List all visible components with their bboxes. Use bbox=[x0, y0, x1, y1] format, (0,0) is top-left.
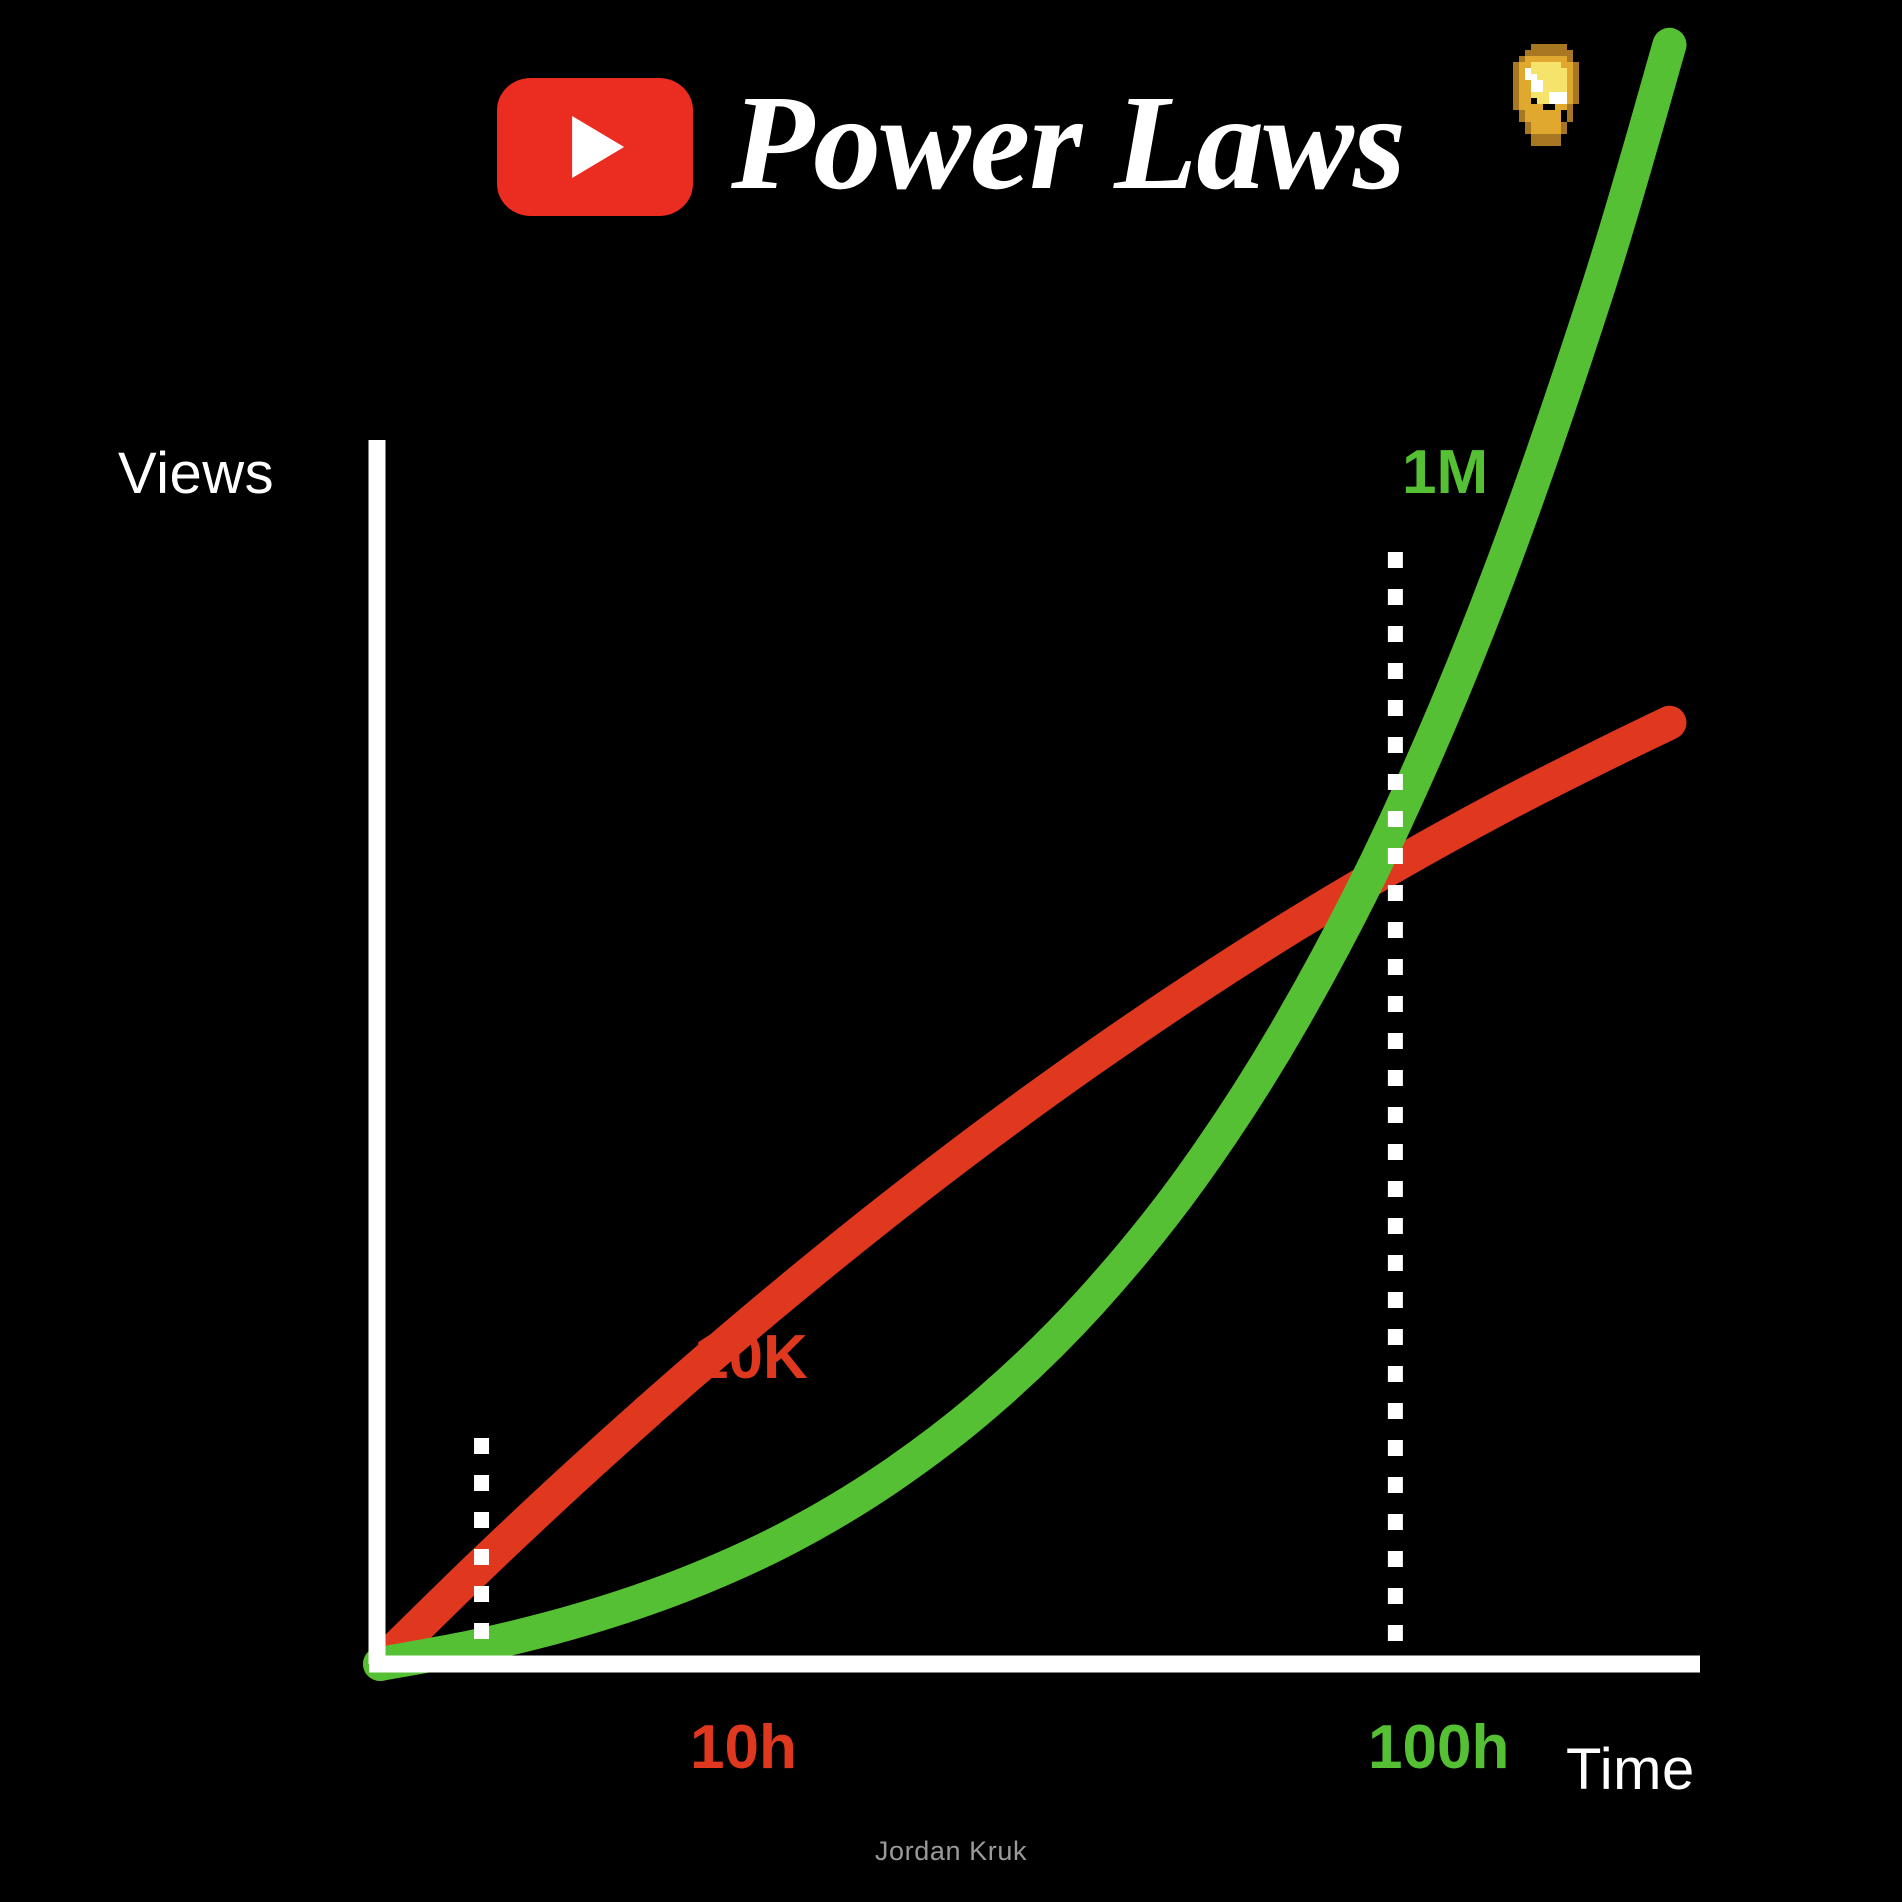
watermark: Jordan Kruk bbox=[0, 1836, 1902, 1867]
y-axis-label: Views bbox=[118, 440, 274, 507]
power-laws-infographic: Power Laws bbox=[0, 0, 1902, 1902]
gold-nugget-icon bbox=[1501, 38, 1597, 164]
x-tick-100h: 100h bbox=[1368, 1712, 1509, 1783]
x-axis-label: Time bbox=[1566, 1736, 1695, 1803]
chart-svg bbox=[0, 0, 1902, 1902]
annotation-1m: 1M bbox=[1402, 437, 1488, 508]
play-triangle-icon bbox=[572, 116, 624, 178]
page-title: Power Laws bbox=[731, 75, 1405, 211]
x-tick-10h: 10h bbox=[690, 1712, 797, 1783]
annotation-10k: 10K bbox=[694, 1322, 808, 1393]
series-power-law bbox=[380, 45, 1670, 1664]
header: Power Laws bbox=[0, 62, 1902, 232]
youtube-play-icon bbox=[497, 78, 693, 216]
chart bbox=[0, 0, 1902, 1902]
series-linear-effort bbox=[380, 723, 1670, 1664]
